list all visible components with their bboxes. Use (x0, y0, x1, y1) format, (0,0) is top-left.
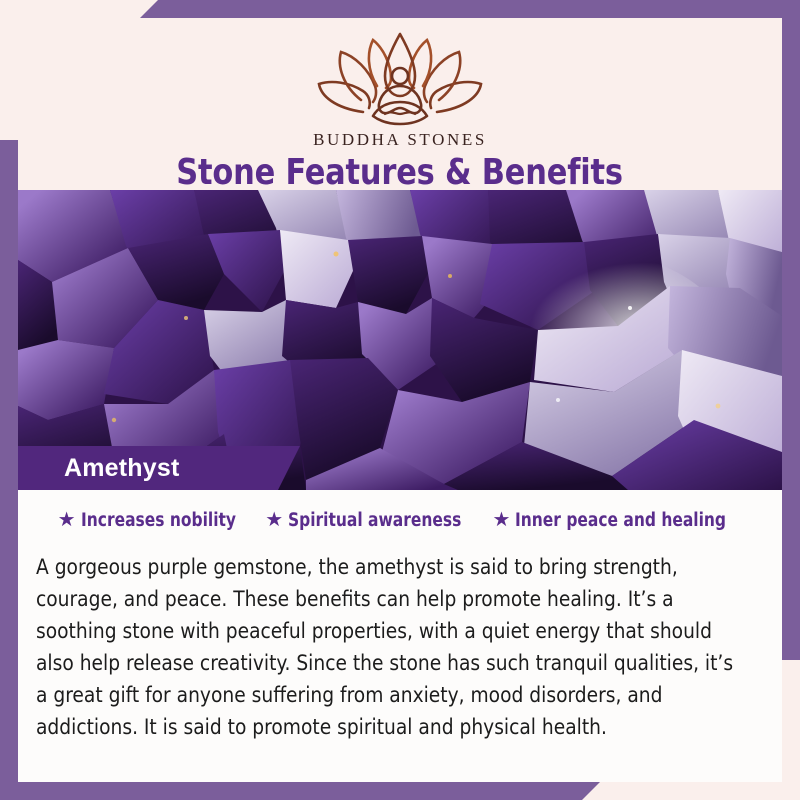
brand-logo-block: BUDDHA STONES (18, 28, 782, 150)
amethyst-crystal-cluster-illustration (18, 190, 782, 490)
benefit-label-1: Increases nobility (81, 510, 236, 531)
frame-band-left (0, 140, 18, 800)
frame-band-bottom (0, 782, 600, 800)
stone-name-text: Amethyst (64, 454, 180, 483)
benefit-item-3: ★ Inner peace and healing (493, 510, 743, 531)
card-body: BUDDHA STONES Stone Features & Benefits (18, 18, 782, 782)
star-icon: ★ (493, 510, 511, 530)
benefit-item-1: ★ Increases nobility (58, 510, 248, 531)
benefit-item-2: ★ Spiritual awareness (265, 510, 474, 531)
benefits-list: ★ Increases nobility ★ Spiritual awarene… (18, 510, 782, 531)
page-title: Stone Features & Benefits (18, 152, 782, 193)
star-icon: ★ (58, 510, 76, 530)
stone-photo: Amethyst (18, 190, 782, 490)
brand-name: BUDDHA STONES (313, 130, 487, 150)
page-title-text: Stone Features & Benefits (177, 152, 624, 193)
lotus-meditation-logo-icon (305, 28, 495, 128)
product-info-card: BUDDHA STONES Stone Features & Benefits (0, 0, 800, 800)
stone-name-banner: Amethyst (18, 446, 300, 490)
stone-description-text: A gorgeous purple gemstone, the amethyst… (36, 552, 742, 744)
stone-description: A gorgeous purple gemstone, the amethyst… (36, 546, 768, 744)
star-icon: ★ (265, 510, 283, 530)
frame-band-top (140, 0, 800, 18)
benefit-label-3: Inner peace and healing (515, 510, 726, 531)
benefit-label-2: Spiritual awareness (288, 510, 461, 531)
frame-band-right (782, 0, 800, 660)
